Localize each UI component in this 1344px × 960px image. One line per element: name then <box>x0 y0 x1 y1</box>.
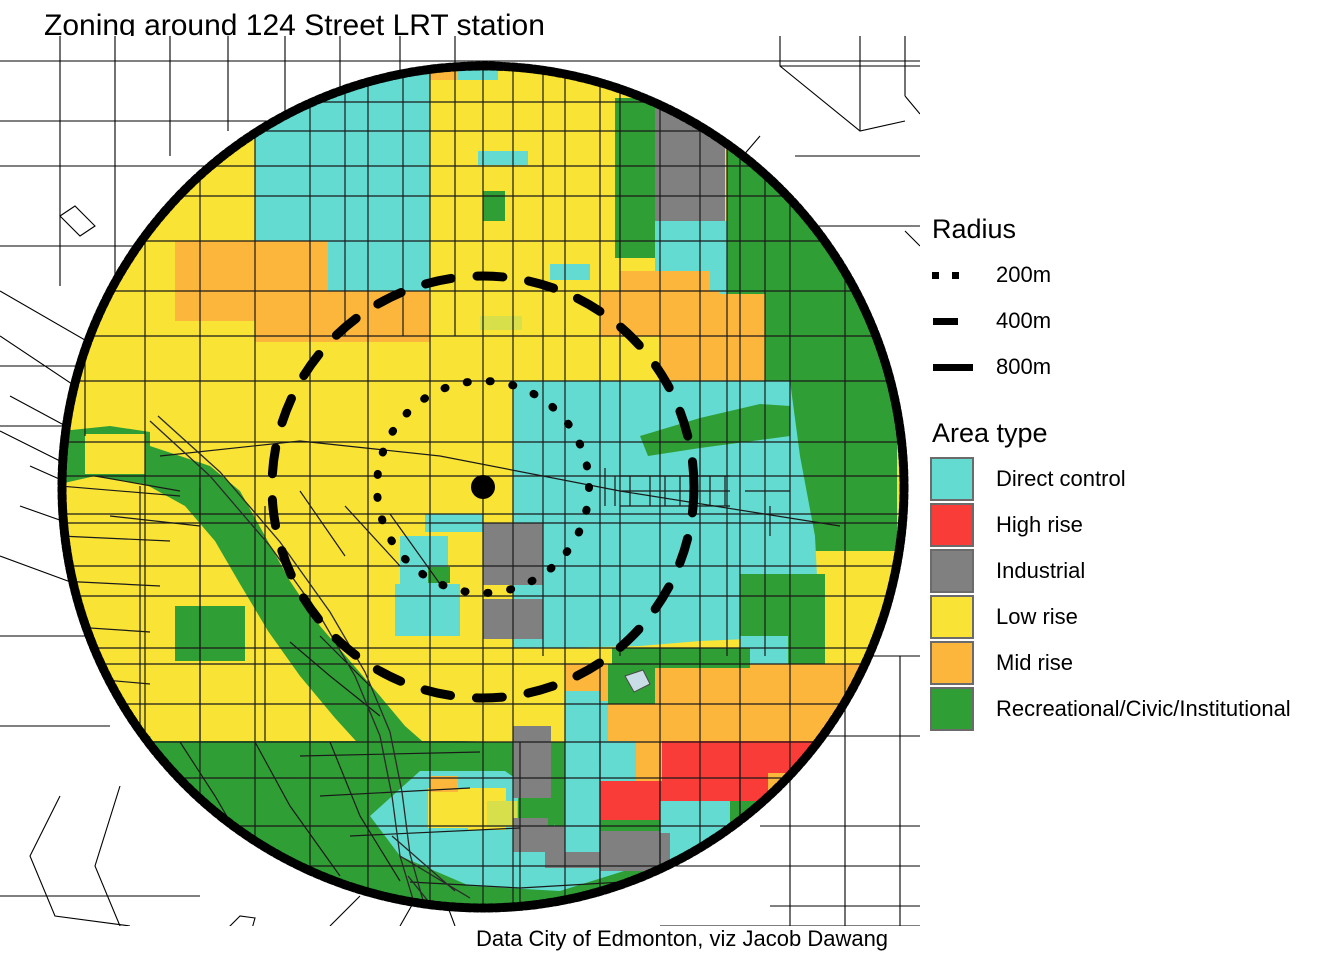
legend-label-radius-200m: 200m <box>996 262 1051 288</box>
lrt-station-point-icon[interactable] <box>471 475 495 499</box>
swatch-low-rise <box>930 595 974 639</box>
legend-label-recreational: Recreational/Civic/Institutional <box>996 696 1291 722</box>
legend: Radius 200m 400m 800m Area <box>930 212 1344 758</box>
zoning-map[interactable] <box>0 36 920 926</box>
solid-line-icon <box>930 344 974 390</box>
legend-label-high-rise: High rise <box>996 512 1083 538</box>
legend-title-radius: Radius <box>932 212 1344 246</box>
dotted-line-icon <box>930 252 974 298</box>
legend-item-industrial[interactable]: Industrial <box>930 548 1344 594</box>
legend-label-radius-800m: 800m <box>996 354 1051 380</box>
legend-label-industrial: Industrial <box>996 558 1085 584</box>
swatch-mid-rise <box>930 641 974 685</box>
swatch-industrial <box>930 549 974 593</box>
legend-item-low-rise[interactable]: Low rise <box>930 594 1344 640</box>
swatch-direct-control <box>930 457 974 501</box>
map-canvas[interactable] <box>0 36 920 926</box>
legend-label-low-rise: Low rise <box>996 604 1078 630</box>
swatch-high-rise <box>930 503 974 547</box>
legend-item-high-rise[interactable]: High rise <box>930 502 1344 548</box>
dashed-line-icon <box>930 298 974 344</box>
legend-group-radius: Radius 200m 400m 800m <box>930 212 1344 390</box>
legend-label-mid-rise: Mid rise <box>996 650 1073 676</box>
legend-label-direct-control: Direct control <box>996 466 1126 492</box>
legend-item-mid-rise[interactable]: Mid rise <box>930 640 1344 686</box>
figure-caption: Data City of Edmonton, viz Jacob Dawang <box>0 926 1344 952</box>
legend-item-radius-800m[interactable]: 800m <box>930 344 1344 390</box>
legend-item-radius-400m[interactable]: 400m <box>930 298 1344 344</box>
zoning-polygons <box>0 36 920 926</box>
legend-group-area-type: Area type Direct control High rise Indus… <box>930 416 1344 732</box>
legend-item-direct-control[interactable]: Direct control <box>930 456 1344 502</box>
legend-title-area-type: Area type <box>932 416 1344 450</box>
map-figure: Zoning around 124 Street LRT station <box>0 0 1344 960</box>
legend-item-recreational[interactable]: Recreational/Civic/Institutional <box>930 686 1344 732</box>
caption-text: Data City of Edmonton, viz Jacob Dawang <box>476 926 888 952</box>
legend-label-radius-400m: 400m <box>996 308 1051 334</box>
legend-item-radius-200m[interactable]: 200m <box>930 252 1344 298</box>
swatch-recreational <box>930 687 974 731</box>
